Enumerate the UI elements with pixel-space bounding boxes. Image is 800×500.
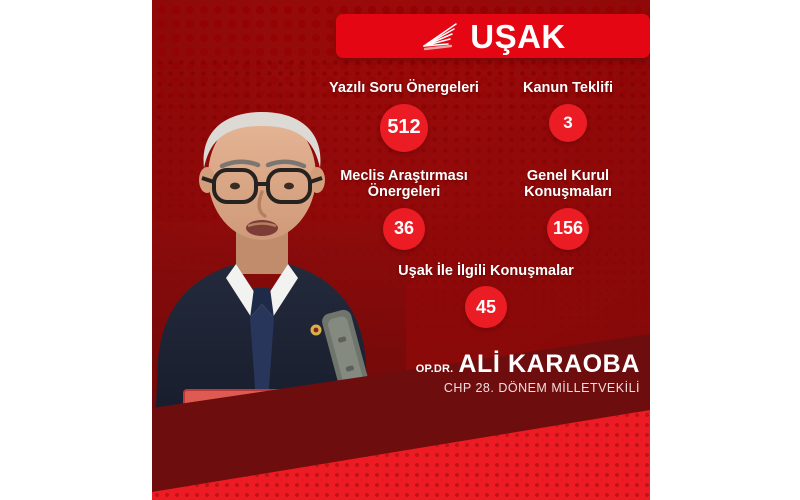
stat-kanun-teklifi: Kanun Teklifi 3 — [486, 80, 650, 152]
poster-title: UŞAK — [470, 20, 566, 53]
stat-row-2: Meclis Araştırması Önergeleri 36 Genel K… — [322, 168, 650, 250]
stat-label: Yazılı Soru Önergeleri — [329, 80, 479, 97]
stat-value-bubble: 156 — [547, 208, 589, 250]
stat-value-bubble: 3 — [549, 104, 587, 142]
title-banner: UŞAK — [336, 14, 650, 58]
stat-value-bubble: 45 — [465, 286, 507, 328]
poster-canvas: 01:31:20 — [0, 0, 800, 500]
stat-usak-ile-ilgili-konusmalar: Uşak İle İlgili Konuşmalar 45 — [322, 263, 650, 329]
stat-value-bubble: 512 — [380, 104, 428, 152]
stat-label: Meclis Araştırması Önergeleri — [340, 168, 468, 201]
spacer — [322, 250, 650, 263]
stat-value-bubble: 36 — [383, 208, 425, 250]
person-full-name: ALİ KARAOBA — [458, 352, 640, 377]
statistics-group: Yazılı Soru Önergeleri 512 Kanun Teklifi… — [322, 80, 650, 328]
name-line: OP.DR. ALİ KARAOBA — [428, 352, 640, 377]
name-prefix: OP.DR. — [416, 363, 454, 375]
stat-label: Genel Kurul Konuşmaları — [524, 168, 612, 201]
poster-panel: 01:31:20 — [152, 0, 650, 500]
stat-row-1: Yazılı Soru Önergeleri 512 Kanun Teklifi… — [322, 80, 650, 152]
spacer — [322, 152, 650, 168]
stat-meclis-arastirmasi-onergeleri: Meclis Araştırması Önergeleri 36 — [322, 168, 486, 250]
person-role: CHP 28. DÖNEM MİLLETVEKİLİ — [428, 381, 640, 395]
stat-label: Uşak İle İlgili Konuşmalar — [398, 263, 574, 280]
stat-label: Kanun Teklifi — [523, 80, 613, 97]
person-name-block: OP.DR. ALİ KARAOBA CHP 28. DÖNEM MİLLETV… — [428, 352, 640, 395]
chp-six-arrows-icon — [420, 19, 460, 53]
stat-yazili-soru-onergeleri: Yazılı Soru Önergeleri 512 — [322, 80, 486, 152]
stat-genel-kurul-konusmalari: Genel Kurul Konuşmaları 156 — [486, 168, 650, 250]
